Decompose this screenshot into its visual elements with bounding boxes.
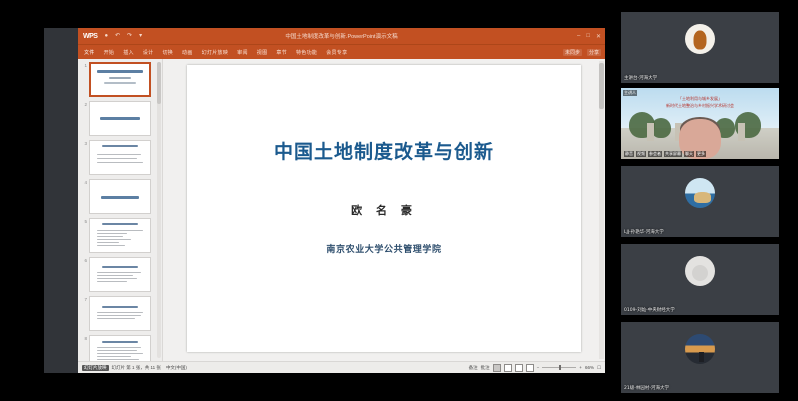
thumbnail-number: 4 bbox=[80, 179, 87, 185]
fit-slide-icon[interactable]: ☐ bbox=[597, 365, 601, 371]
avatar-landscape-icon bbox=[685, 178, 715, 208]
editor-body: 1 2 3 bbox=[78, 59, 605, 361]
stream-overlay-line1: 「土地利用与城乡发展」 bbox=[678, 96, 722, 102]
thumbnail-item-8[interactable]: 8 bbox=[78, 335, 162, 361]
status-mode-tag: 幻灯片放映 bbox=[82, 365, 109, 371]
stream-toolbar[interactable]: 静音 视频 参会者 共享屏幕 聊天 更多 bbox=[624, 151, 706, 157]
participant-name: 0109-刘灿-中央财经大学 bbox=[624, 307, 675, 313]
view-sorter-icon[interactable] bbox=[504, 364, 512, 372]
thumbnail-item-7[interactable]: 7 bbox=[78, 296, 162, 331]
minimize-icon[interactable]: – bbox=[577, 33, 580, 40]
meeting-screen: WPS ● ↶ ↷ ▾ 中国土地制度改革与创新.PowerPoint演示文稿 –… bbox=[0, 0, 798, 401]
status-bar: 幻灯片放映 幻灯片 第 1 张，共 11 张 中文(中国) 备注 批注 − + … bbox=[78, 361, 605, 373]
thumbnail-item-3[interactable]: 3 bbox=[78, 140, 162, 175]
ribbon-tab-8[interactable]: 视图 bbox=[257, 49, 268, 56]
speaker-tag: 主讲人 bbox=[623, 90, 637, 96]
view-normal-icon[interactable] bbox=[493, 364, 501, 372]
thumbnail-item-1[interactable]: 1 bbox=[78, 62, 162, 97]
avatar-sunset-icon bbox=[685, 334, 715, 364]
thumbnail-preview[interactable] bbox=[89, 257, 151, 292]
chat-button[interactable]: 聊天 bbox=[684, 151, 694, 157]
title-bar-right[interactable]: – □ ✕ bbox=[577, 33, 601, 40]
slide-canvas: 中国土地制度改革与创新 欧 名 豪 南京农业大学公共管理学院 bbox=[163, 59, 605, 361]
share-screen-button[interactable]: 共享屏幕 bbox=[664, 151, 682, 157]
ribbon-tab-5[interactable]: 动画 bbox=[182, 49, 193, 56]
ribbon-right-controls[interactable]: 未同步 分享 bbox=[563, 49, 601, 56]
title-bar: WPS ● ↶ ↷ ▾ 中国土地制度改革与创新.PowerPoint演示文稿 –… bbox=[78, 28, 605, 44]
thumbnail-number: 1 bbox=[80, 62, 87, 68]
participant-tile-2[interactable]: 「土地利用与城乡发展」 新时代土地整治与乡村振兴学术研讨会 主讲人 静音 视频 … bbox=[621, 88, 779, 159]
slide-thumbnail-panel[interactable]: 1 2 3 bbox=[78, 59, 163, 361]
participant-tile-1[interactable]: 主讲台-河海大学 bbox=[621, 12, 779, 83]
thumbnail-item-6[interactable]: 6 bbox=[78, 257, 162, 292]
thumbnail-preview[interactable] bbox=[89, 335, 151, 361]
view-slideshow-icon[interactable] bbox=[526, 364, 534, 372]
ribbon-tab-10[interactable]: 特色功能 bbox=[296, 49, 317, 56]
current-slide[interactable]: 中国土地制度改革与创新 欧 名 豪 南京农业大学公共管理学院 bbox=[187, 65, 581, 352]
ribbon-tab-11[interactable]: 会员专享 bbox=[326, 49, 347, 56]
video-button[interactable]: 视频 bbox=[636, 151, 646, 157]
participant-name: 21级-林园村-河海大学 bbox=[624, 385, 669, 391]
zoom-slider[interactable] bbox=[542, 367, 576, 368]
maximize-icon[interactable]: □ bbox=[586, 33, 590, 40]
thumbnail-item-5[interactable]: 5 bbox=[78, 218, 162, 253]
thumbnail-number: 2 bbox=[80, 101, 87, 107]
participants-button[interactable]: 参会者 bbox=[648, 151, 662, 157]
slide-author: 欧 名 豪 bbox=[351, 202, 417, 218]
participant-tile-3[interactable]: LJJ-孙艳华-河海大学 bbox=[621, 166, 779, 237]
comments-button[interactable]: 批注 bbox=[481, 365, 490, 371]
stream-overlay-line2: 新时代土地整治与乡村振兴学术研讨会 bbox=[666, 103, 734, 109]
document-title: 中国土地制度改革与创新.PowerPoint演示文稿 bbox=[78, 32, 605, 40]
zoom-in-icon[interactable]: + bbox=[579, 365, 582, 370]
notes-button[interactable]: 备注 bbox=[469, 365, 478, 371]
thumbnail-preview[interactable] bbox=[89, 101, 151, 136]
mute-button[interactable]: 静音 bbox=[624, 151, 634, 157]
shared-screen-region: WPS ● ↶ ↷ ▾ 中国土地制度改革与创新.PowerPoint演示文稿 –… bbox=[44, 28, 605, 373]
view-reading-icon[interactable] bbox=[515, 364, 523, 372]
slide-organization: 南京农业大学公共管理学院 bbox=[326, 242, 441, 255]
slide-title: 中国土地制度改革与创新 bbox=[274, 137, 494, 164]
share-button[interactable]: 分享 bbox=[587, 49, 601, 56]
thumbnail-number: 8 bbox=[80, 335, 87, 341]
participant-tile-4[interactable]: 0109-刘灿-中央财经大学 bbox=[621, 244, 779, 315]
thumbnail-preview[interactable] bbox=[89, 218, 151, 253]
powerpoint-window: WPS ● ↶ ↷ ▾ 中国土地制度改革与创新.PowerPoint演示文稿 –… bbox=[78, 28, 605, 373]
participant-tile-strip: 主讲台-河海大学 「土地利用与城乡发展」 新时代土地整治与乡村振兴学术研讨会 主… bbox=[605, 0, 798, 401]
status-language[interactable]: 中文(中国) bbox=[166, 365, 187, 371]
ribbon-tab-3[interactable]: 设计 bbox=[143, 49, 154, 56]
ribbon-tab-0[interactable]: 文件 bbox=[84, 49, 95, 56]
thumbnail-scroll-track[interactable] bbox=[157, 62, 161, 358]
more-button[interactable]: 更多 bbox=[696, 151, 706, 157]
ribbon-tab-4[interactable]: 切换 bbox=[162, 49, 173, 56]
ribbon-tab-9[interactable]: 章节 bbox=[276, 49, 287, 56]
avatar-blank-icon bbox=[685, 256, 715, 286]
thumbnail-number: 7 bbox=[80, 296, 87, 302]
zoom-out-icon[interactable]: − bbox=[537, 365, 540, 370]
participant-name: LJJ-孙艳华-河海大学 bbox=[624, 229, 664, 235]
thumbnail-number: 5 bbox=[80, 218, 87, 224]
thumbnail-number: 6 bbox=[80, 257, 87, 263]
status-slide-info: 幻灯片 第 1 张，共 11 张 bbox=[112, 365, 161, 371]
thumbnail-preview[interactable] bbox=[89, 62, 151, 97]
ribbon-tab-2[interactable]: 插入 bbox=[123, 49, 134, 56]
participant-name: 主讲台-河海大学 bbox=[624, 75, 657, 81]
thumbnail-preview[interactable] bbox=[89, 296, 151, 331]
avatar-person-icon bbox=[685, 24, 715, 54]
ribbon-tab-7[interactable]: 审阅 bbox=[237, 49, 248, 56]
thumbnail-preview[interactable] bbox=[89, 179, 151, 214]
thumbnail-item-2[interactable]: 2 bbox=[78, 101, 162, 136]
sync-status[interactable]: 未同步 bbox=[563, 49, 582, 56]
thumbnail-preview[interactable] bbox=[89, 140, 151, 175]
thumbnail-number: 3 bbox=[80, 140, 87, 146]
canvas-scroll-thumb[interactable] bbox=[599, 63, 604, 109]
ribbon-tab-6[interactable]: 幻灯片放映 bbox=[202, 49, 229, 56]
status-right-controls[interactable]: 备注 批注 − + 66% ☐ bbox=[469, 364, 601, 372]
close-icon[interactable]: ✕ bbox=[596, 33, 601, 40]
thumbnail-item-4[interactable]: 4 bbox=[78, 179, 162, 214]
participant-tile-5[interactable]: 21级-林园村-河海大学 bbox=[621, 322, 779, 393]
ribbon-tab-bar[interactable]: 文件 开始 插入 设计 切换 动画 幻灯片放映 审阅 视图 章节 特色功能 会员… bbox=[78, 44, 605, 59]
thumbnail-scroll-thumb[interactable] bbox=[157, 62, 161, 104]
ribbon-tab-1[interactable]: 开始 bbox=[104, 49, 115, 56]
zoom-level: 66% bbox=[585, 365, 594, 370]
